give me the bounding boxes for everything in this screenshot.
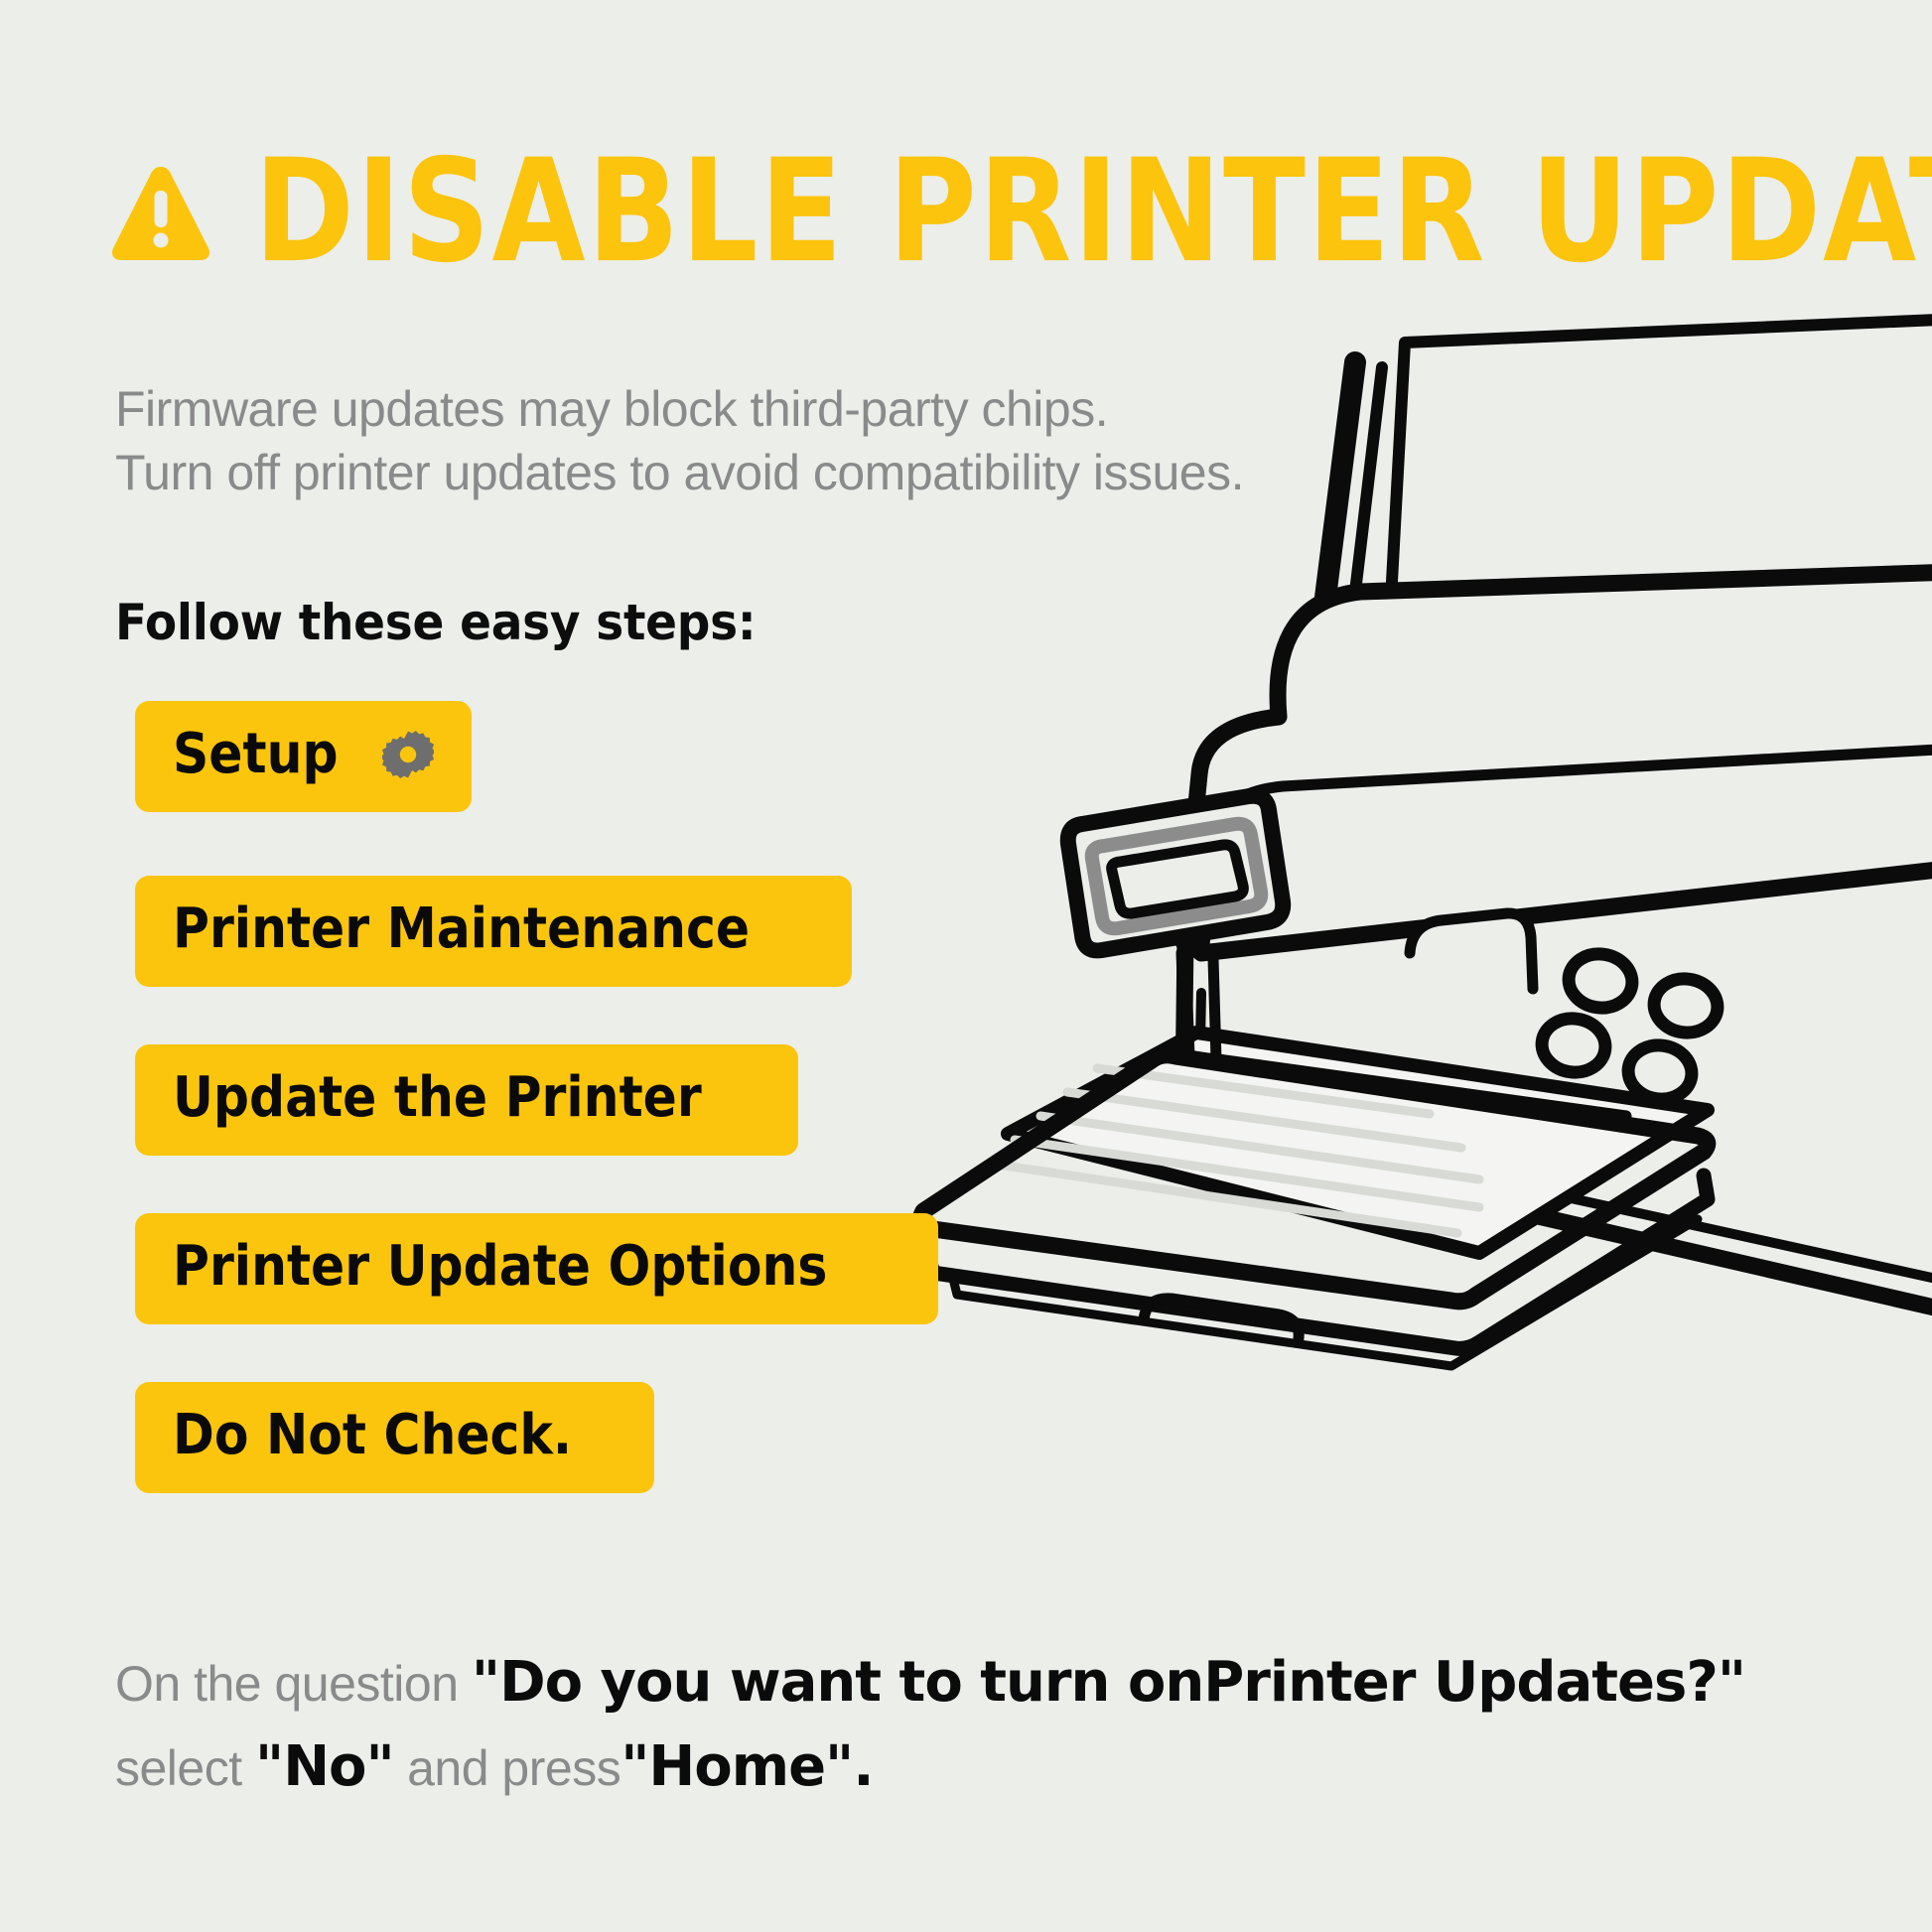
panel-button-3	[1539, 1015, 1609, 1076]
panel-button-1	[1566, 950, 1636, 1012]
subtitle-line-2: Turn off printer updates to avoid compat…	[115, 441, 1244, 504]
warning-triangle-icon	[109, 163, 212, 262]
footnote-prefix: On the question	[115, 1656, 472, 1712]
panel-button-2	[1651, 975, 1722, 1036]
paper-input-tray	[1302, 318, 1932, 717]
step-button-setup[interactable]: Setup	[135, 701, 472, 812]
poster-canvas: DISABLE PRINTER UPDATES Firmware updates…	[0, 0, 1932, 1932]
printed-page	[991, 1033, 1708, 1253]
output-paper-tray	[921, 1055, 1708, 1366]
footnote-mid: and press	[394, 1740, 621, 1796]
page-title: DISABLE PRINTER UPDATES	[254, 141, 1932, 283]
page-title-row: DISABLE PRINTER UPDATES	[109, 147, 1932, 278]
printer-body	[1183, 864, 1932, 1320]
subtitle: Firmware updates may block third-party c…	[115, 377, 1244, 504]
step-button-printer-maintenance[interactable]: Printer Maintenance	[135, 876, 852, 987]
panel-button-4	[1625, 1041, 1696, 1103]
step-button-do-not-check[interactable]: Do Not Check.	[135, 1382, 654, 1493]
lid-latch	[1410, 913, 1533, 989]
step-label: Printer Maintenance	[173, 901, 750, 957]
steps-heading: Follow these easy steps:	[115, 594, 756, 651]
step-button-printer-update-options[interactable]: Printer Update Options	[135, 1213, 938, 1324]
footnote: On the question "Do you want to turn onP…	[115, 1640, 1745, 1809]
steps-list: Setup Printer Maintenance Update the Pri…	[135, 701, 938, 1493]
footnote-line-2: select "No" and press"Home".	[115, 1725, 1745, 1809]
step-label: Update the Printer	[173, 1070, 702, 1126]
step-button-update-the-printer[interactable]: Update the Printer	[135, 1044, 798, 1156]
step-label: Do Not Check.	[173, 1408, 572, 1463]
footnote-line-1: On the question "Do you want to turn onP…	[115, 1640, 1745, 1725]
step-label: Setup	[173, 727, 339, 782]
step-label: Printer Update Options	[173, 1239, 827, 1295]
tray-support-arms	[1183, 953, 1626, 1116]
printer-illustration	[1013, 397, 1932, 1320]
subtitle-line-1: Firmware updates may block third-party c…	[115, 377, 1244, 441]
footnote-answer-home: "Home".	[621, 1734, 873, 1799]
footnote-answer-no: "No"	[255, 1734, 394, 1799]
control-panel-display	[1070, 798, 1274, 943]
footnote-select-prefix: select	[115, 1740, 255, 1796]
footnote-question: "Do you want to turn onPrinter Updates?"	[472, 1650, 1745, 1715]
scanner-lid	[1183, 571, 1932, 991]
control-panel-display	[1068, 796, 1283, 951]
control-panel-buttons	[1539, 950, 1722, 1103]
gear-icon	[382, 729, 434, 780]
